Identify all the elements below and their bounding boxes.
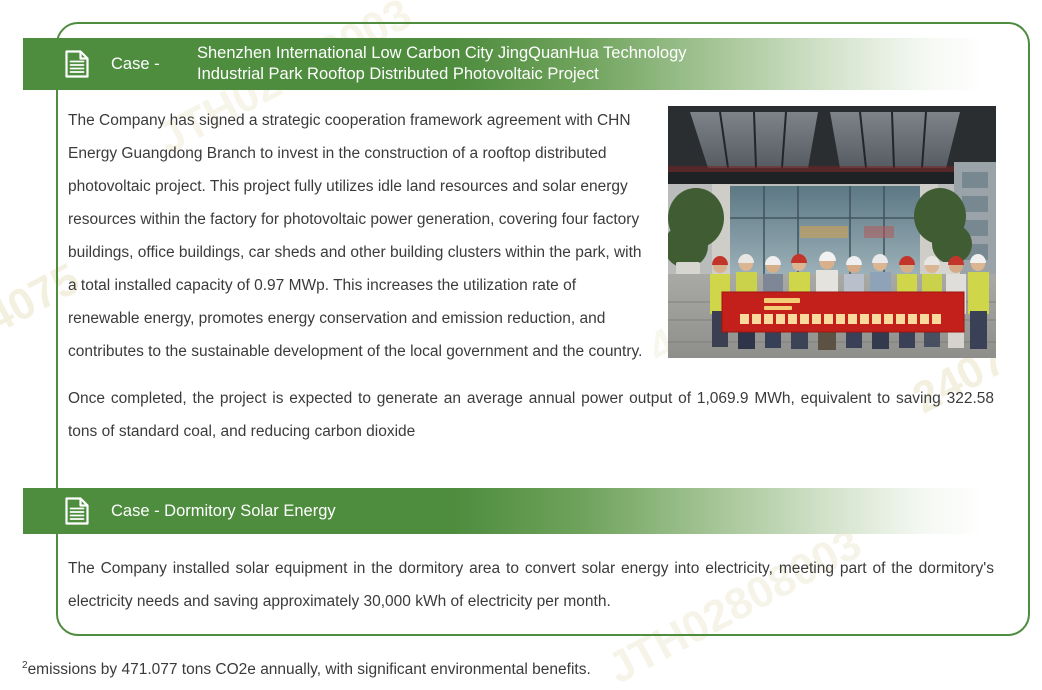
footer-text: emissions by 471.077 tons CO2e annually,… [28,661,591,678]
case-label: Case - Dormitory Solar Energy [111,502,336,521]
project-team-photo [668,106,996,358]
case-header-dormitory: Case - Dormitory Solar Energy [23,488,1008,534]
case-label: Case - [111,55,175,74]
case-header-photovoltaic: Case - Shenzhen International Low Carbon… [23,38,1008,90]
document-icon [65,497,89,525]
case-body-dormitory: The Company installed solar equipment in… [68,552,994,618]
document-icon [65,50,89,78]
footer-continuation-text: 2emissions by 471.077 tons CO2e annually… [22,655,591,681]
photo-illustration [668,106,996,358]
case-paragraph: The Company installed solar equipment in… [68,552,994,618]
case-paragraph: Once completed, the project is expected … [68,382,994,448]
case-title-line-1: Shenzhen International Low Carbon City J… [197,43,687,64]
case-title-line-2: Industrial Park Rooftop Distributed Phot… [197,64,687,85]
case-paragraph: The Company has signed a strategic coope… [68,104,646,368]
page-root: 4075 JTH02808003 2407 JTH02808003 402808… [0,0,1042,690]
case-title: Shenzhen International Low Carbon City J… [197,43,687,85]
